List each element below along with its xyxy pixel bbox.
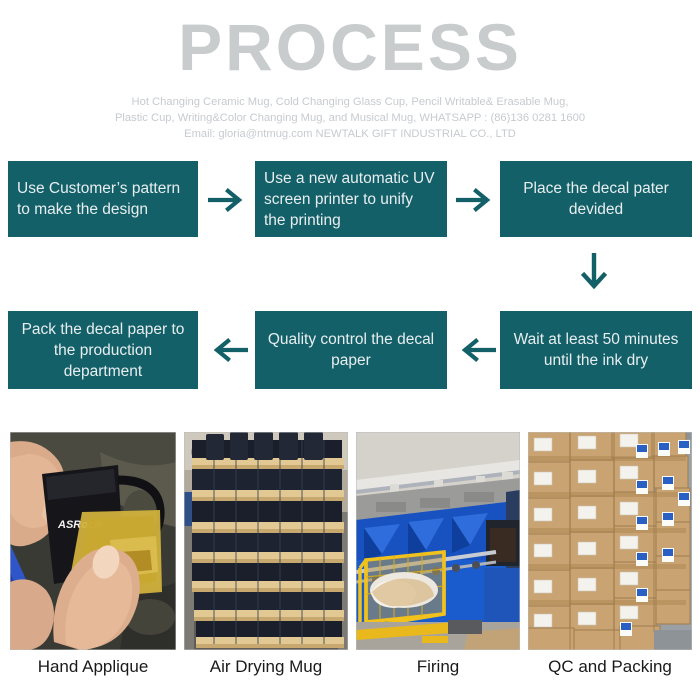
process-step-3-label: Place the decal pater devided (509, 178, 683, 220)
arrow-right-icon-2 (456, 187, 496, 213)
process-step-1-label: Use Customer’s pattern to make the desig… (17, 178, 189, 220)
contact-line-2: Plastic Cup, Writing&Color Changing Mug,… (0, 110, 700, 126)
process-step-3[interactable]: Place the decal pater devided (500, 161, 692, 237)
arrow-right-icon-1 (208, 187, 248, 213)
process-step-6[interactable]: Pack the decal paper to the production d… (8, 311, 198, 389)
process-step-4-label: Wait at least 50 minutes until the ink d… (509, 329, 683, 371)
process-step-5-label: Quality control the decal paper (264, 329, 438, 371)
photo-captions: Hand Applique Air Drying Mug Firing QC a… (0, 655, 700, 695)
process-step-4[interactable]: Wait at least 50 minutes until the ink d… (500, 311, 692, 389)
caption-firing: Firing (356, 655, 520, 679)
page-title: PROCESS (0, 14, 700, 80)
photo-qc-packing[interactable] (528, 432, 692, 650)
caption-air-drying-mug: Air Drying Mug (184, 655, 348, 679)
process-step-6-label: Pack the decal paper to the production d… (17, 319, 189, 382)
contact-line-3: Email: gloria@ntmug.com NEWTALK GIFT IND… (0, 126, 700, 142)
process-step-1[interactable]: Use Customer’s pattern to make the desig… (8, 161, 198, 237)
photo-gallery: ASRock (0, 432, 700, 650)
process-flow-diagram: Use Customer’s pattern to make the desig… (0, 153, 700, 403)
process-step-2-label: Use a new automatic UV screen printer to… (264, 168, 438, 231)
caption-qc-packing: QC and Packing (528, 655, 692, 679)
process-step-2[interactable]: Use a new automatic UV screen printer to… (255, 161, 447, 237)
photo-air-drying-mug[interactable] (184, 432, 348, 650)
contact-info-block: Hot Changing Ceramic Mug, Cold Changing … (0, 94, 700, 142)
photo-firing[interactable] (356, 432, 520, 650)
caption-hand-applique: Hand Applique (10, 655, 176, 679)
page-header: PROCESS Hot Changing Ceramic Mug, Cold C… (0, 0, 700, 142)
arrow-down-icon (578, 253, 610, 295)
photo-hand-applique[interactable]: ASRock (10, 432, 176, 650)
arrow-left-icon-1 (456, 337, 496, 363)
arrow-left-icon-2 (208, 337, 248, 363)
process-step-5[interactable]: Quality control the decal paper (255, 311, 447, 389)
contact-line-1: Hot Changing Ceramic Mug, Cold Changing … (0, 94, 700, 110)
